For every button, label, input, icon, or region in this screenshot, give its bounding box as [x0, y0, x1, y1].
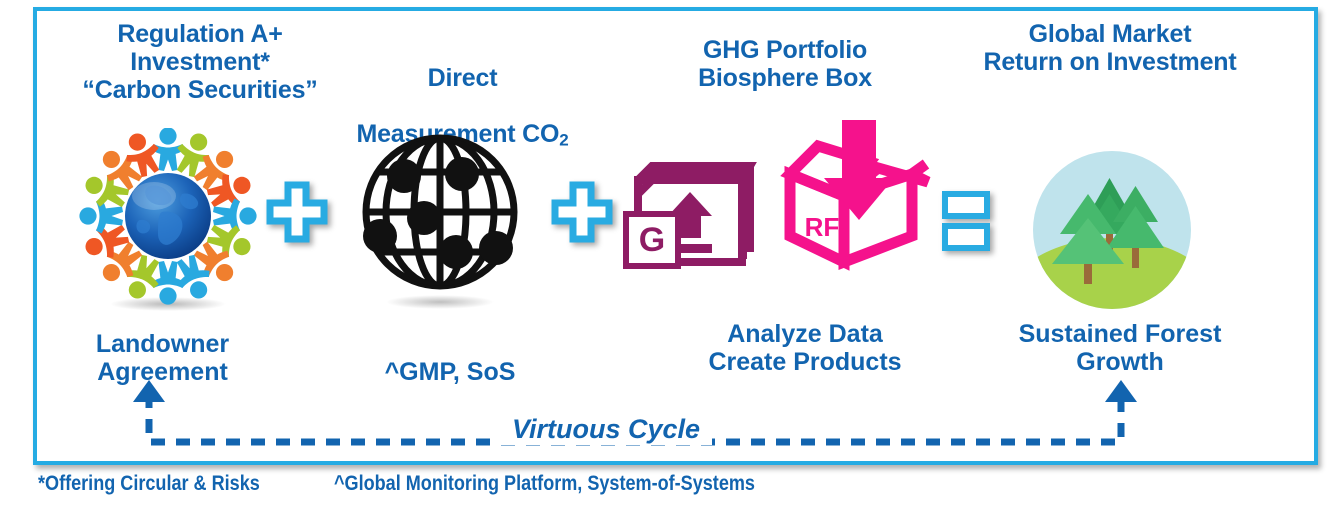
- people-around-globe-icon: [78, 128, 258, 313]
- diagram-canvas: Regulation A+ Investment* “Carbon Securi…: [0, 0, 1332, 508]
- heading-global-market: Global Market Return on Investment: [955, 20, 1265, 76]
- footnote-global-monitoring-platform: ^Global Monitoring Platform, System-of-S…: [334, 472, 755, 496]
- heading-ghg-portfolio: GHG Portfolio Biosphere Box: [655, 36, 915, 92]
- equals-operator: [941, 190, 991, 257]
- plus-operator-2: [551, 181, 613, 248]
- footnote-offering-circular: *Offering Circular & Risks: [38, 472, 260, 496]
- rf-box-badge-label: RF: [805, 212, 840, 242]
- virtuous-cycle-label: Virtuous Cycle: [500, 414, 712, 445]
- footnotes: *Offering Circular & Risks^Global Monito…: [38, 472, 1328, 496]
- caption-analyze-data: Analyze Data Create Products: [680, 320, 930, 376]
- heading-co2-subscript: 2: [559, 131, 568, 150]
- heading-regulation-investment: Regulation A+ Investment* “Carbon Securi…: [45, 20, 355, 104]
- rf-delivery-box-icon: RF: [766, 112, 936, 277]
- forest-circle-icon: [1032, 150, 1192, 310]
- caption-landowner-agreement: Landowner Agreement: [45, 330, 280, 386]
- cycle-right-arrowhead: [1105, 380, 1137, 402]
- plus-operator-1: [266, 181, 328, 248]
- ghg-portfolio-box-icon: G: [622, 140, 777, 275]
- network-globe-icon: [352, 126, 532, 311]
- caption-sustained-forest-growth: Sustained Forest Growth: [975, 320, 1265, 376]
- cycle-left-arrowhead: [133, 380, 165, 402]
- ghg-box-badge-label: G: [639, 221, 665, 259]
- heading-direct-measurement-line1: Direct: [428, 64, 498, 92]
